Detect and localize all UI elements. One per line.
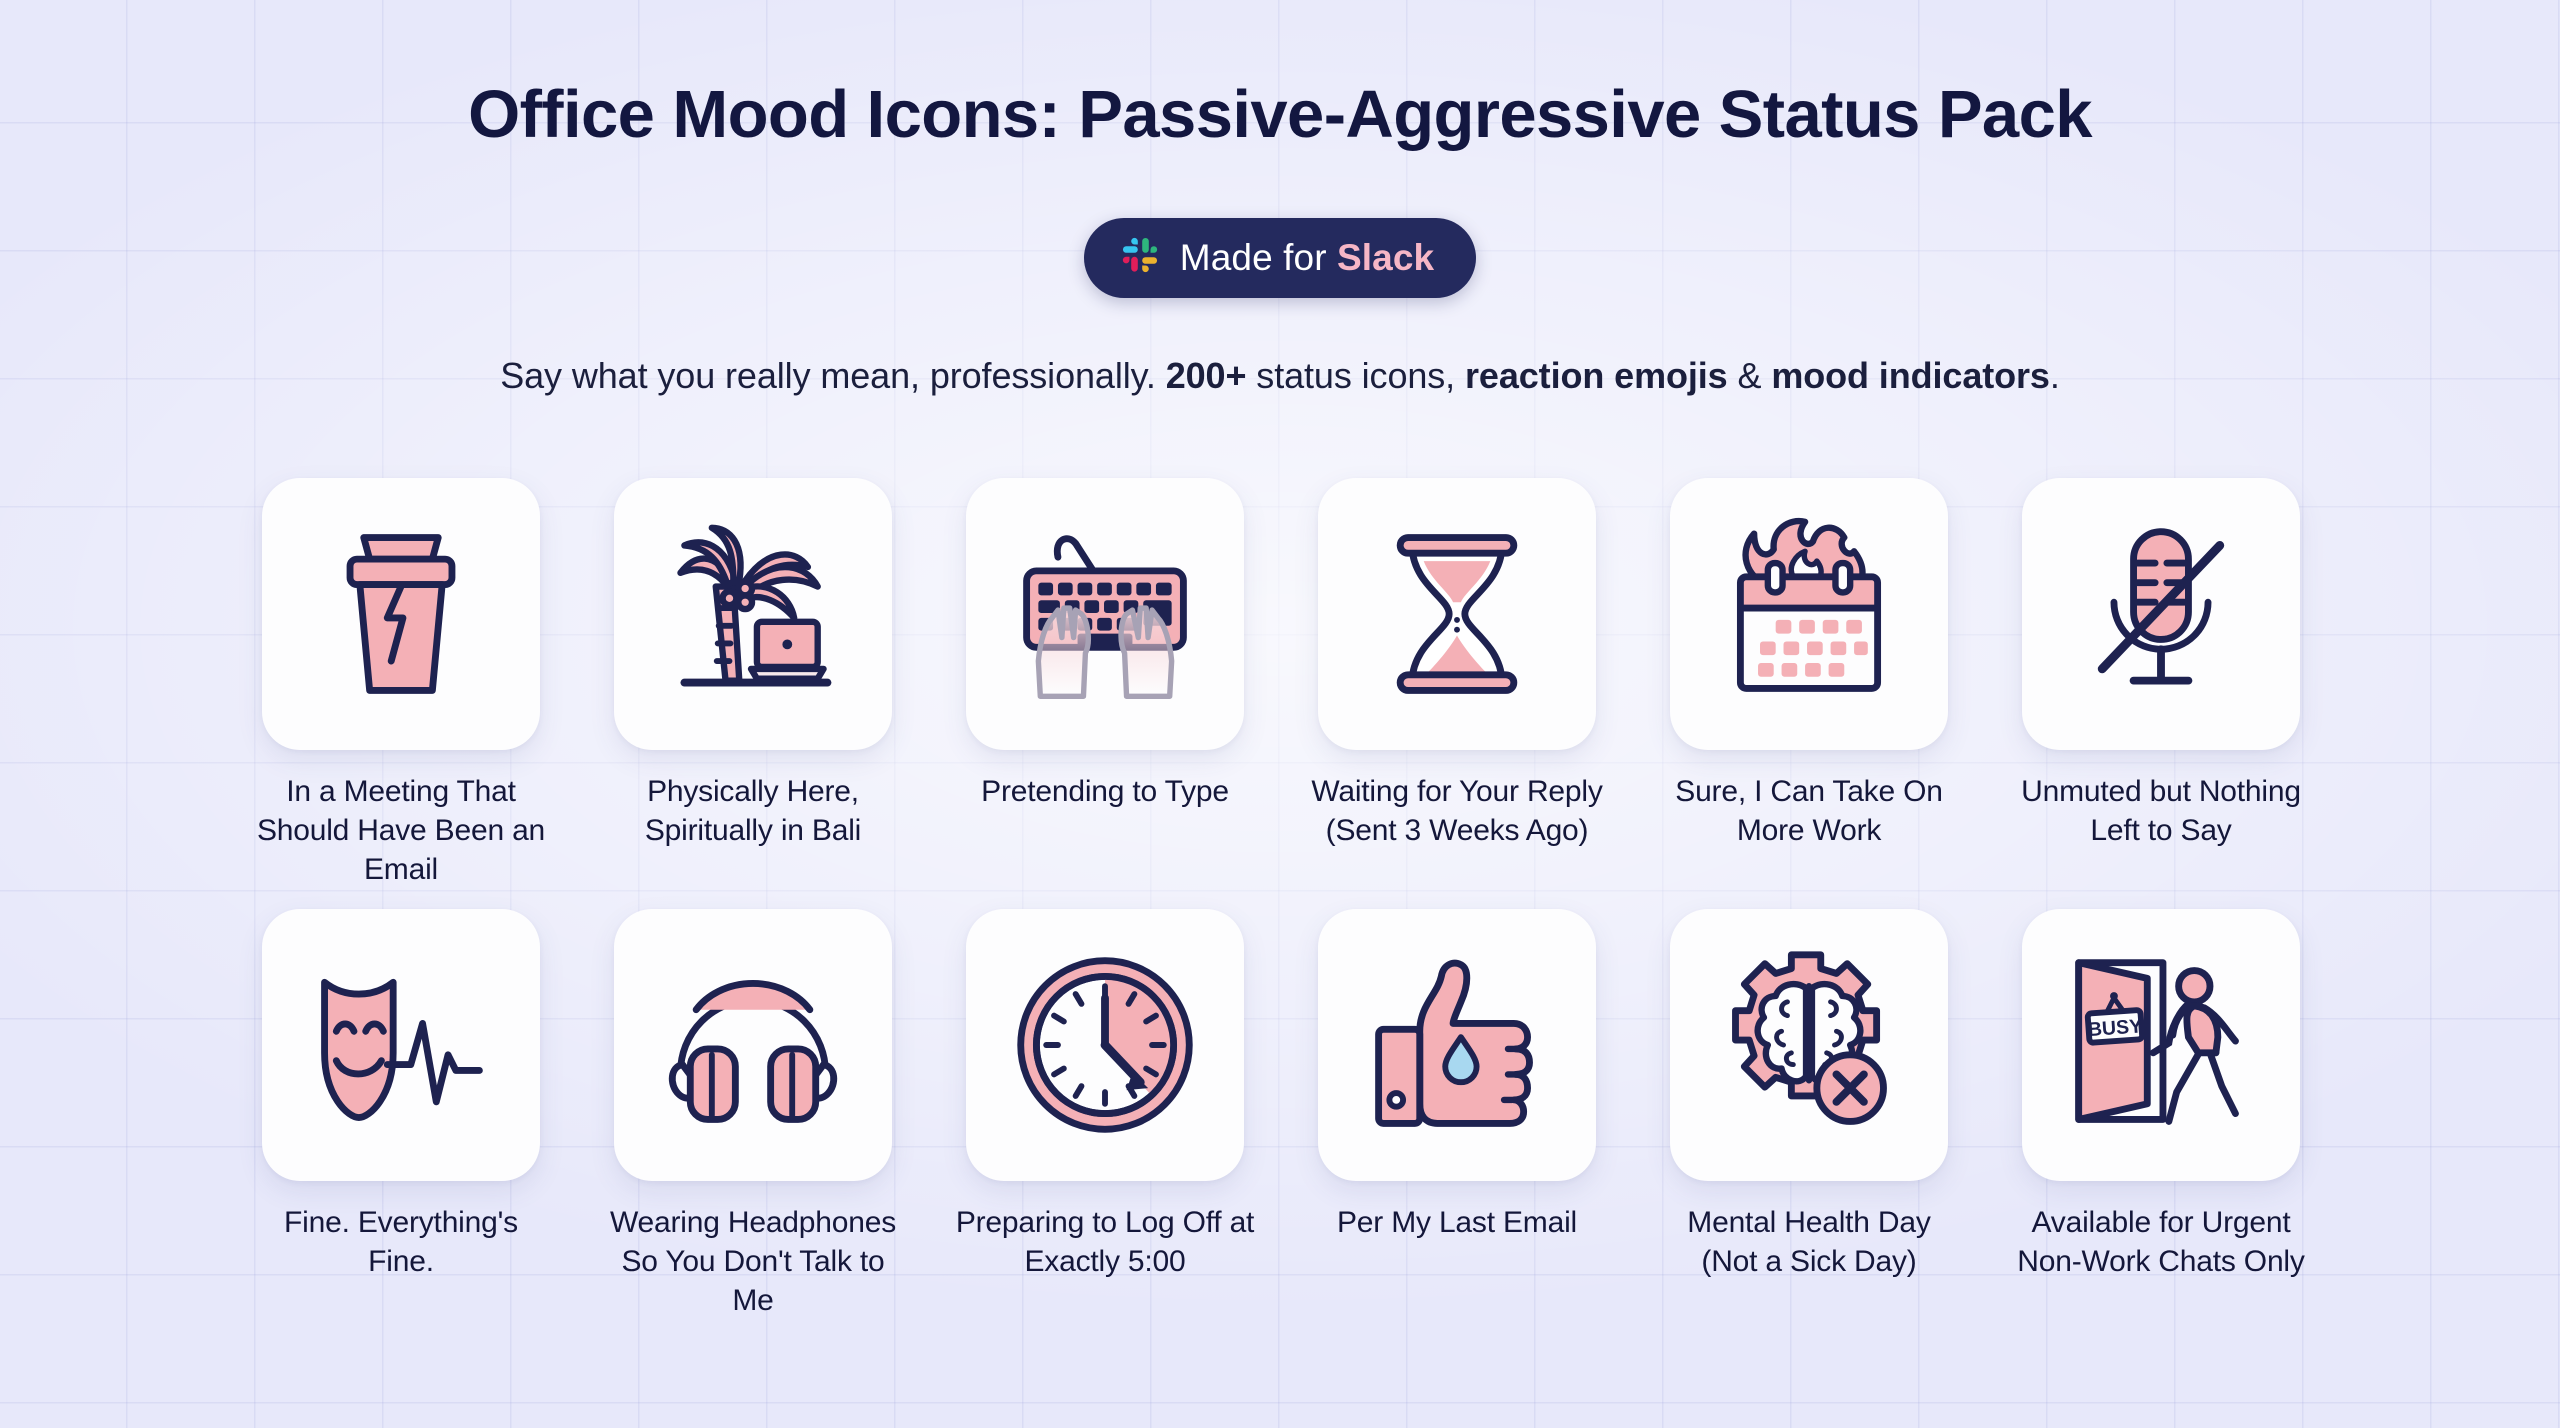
subtitle-bold-2: reaction emojis: [1465, 355, 1728, 396]
icon-label: Waiting for Your Reply (Sent 3 Weeks Ago…: [1307, 772, 1607, 850]
icon-label: Physically Here, Spiritually in Bali: [603, 772, 903, 850]
icon-card[interactable]: [1670, 909, 1948, 1181]
subtitle-bold-3: mood indicators: [1771, 355, 2050, 396]
icon-cell[interactable]: Preparing to Log Off at Exactly 5:00: [929, 909, 1281, 1320]
icon-label: Mental Health Day (Not a Sick Day): [1659, 1203, 1959, 1281]
icon-cell[interactable]: Wearing Headphones So You Don't Talk to …: [577, 909, 929, 1320]
icon-card[interactable]: [1318, 909, 1596, 1181]
icon-card[interactable]: [262, 478, 540, 750]
subtitle-part-4: .: [2050, 355, 2060, 396]
icon-label: Available for Urgent Non-Work Chats Only: [2011, 1203, 2311, 1281]
page-title: Office Mood Icons: Passive-Aggressive St…: [0, 76, 2560, 153]
badge-prefix: Made for: [1180, 237, 1337, 278]
icon-cell[interactable]: Sure, I Can Take On More Work: [1633, 478, 1985, 889]
icon-card[interactable]: [262, 909, 540, 1181]
busy-sign-text: BUSY: [2087, 1015, 2143, 1041]
icon-label: Fine. Everything's Fine.: [251, 1203, 551, 1281]
broken-coffee-cup-icon: [303, 516, 499, 712]
badge-label: Made for Slack: [1180, 237, 1434, 279]
badge-brand: Slack: [1337, 237, 1434, 278]
icon-cell[interactable]: Mental Health Day (Not a Sick Day): [1633, 909, 1985, 1320]
muted-microphone-icon: [2063, 516, 2259, 712]
hourglass-icon: [1359, 516, 1555, 712]
icon-cell[interactable]: BUSY Available for Urgent Non-Work Chats…: [1985, 909, 2337, 1320]
icon-card[interactable]: [966, 909, 1244, 1181]
clock-five-oclock-icon: [1007, 947, 1203, 1143]
icon-card[interactable]: [1670, 478, 1948, 750]
icon-cell[interactable]: Per My Last Email: [1281, 909, 1633, 1320]
icon-card[interactable]: [966, 478, 1244, 750]
icon-card[interactable]: BUSY: [2022, 909, 2300, 1181]
icon-cell[interactable]: Waiting for Your Reply (Sent 3 Weeks Ago…: [1281, 478, 1633, 889]
icon-label: Preparing to Log Off at Exactly 5:00: [955, 1203, 1255, 1281]
icon-cell[interactable]: Physically Here, Spiritually in Bali: [577, 478, 929, 889]
keyboard-hands-icon: [1007, 516, 1203, 712]
subtitle-bold-1: 200+: [1166, 355, 1247, 396]
poster-page: Office Mood Icons: Passive-Aggressive St…: [0, 0, 2560, 1428]
subtitle-part-2: status icons,: [1246, 355, 1465, 396]
icon-cell[interactable]: Pretending to Type: [929, 478, 1281, 889]
subtitle-part-1: Say what you really mean, professionally…: [500, 355, 1165, 396]
icon-card[interactable]: [2022, 478, 2300, 750]
smiling-mask-heartbeat-icon: [303, 947, 499, 1143]
made-for-slack-badge[interactable]: Made for Slack: [1084, 218, 1476, 298]
palm-tree-laptop-icon: [655, 516, 851, 712]
icon-label: Per My Last Email: [1307, 1203, 1607, 1242]
icon-cell[interactable]: Unmuted but Nothing Left to Say: [1985, 478, 2337, 889]
icon-card[interactable]: [1318, 478, 1596, 750]
icon-card[interactable]: [614, 909, 892, 1181]
headphones-icon: [655, 947, 851, 1143]
icon-label: Sure, I Can Take On More Work: [1659, 772, 1959, 850]
slack-logo-icon: [1118, 233, 1162, 282]
sweating-thumbs-up-icon: [1359, 947, 1555, 1143]
busy-door-exit-icon: BUSY: [2063, 947, 2259, 1143]
icon-label: Unmuted but Nothing Left to Say: [2011, 772, 2311, 850]
icon-label: Wearing Headphones So You Don't Talk to …: [603, 1203, 903, 1320]
icon-grid: In a Meeting That Should Have Been an Em…: [225, 478, 2337, 1320]
page-subtitle: Say what you really mean, professionally…: [0, 355, 2560, 397]
brain-gear-disabled-icon: [1711, 947, 1907, 1143]
icon-cell[interactable]: Fine. Everything's Fine.: [225, 909, 577, 1320]
icon-cell[interactable]: In a Meeting That Should Have Been an Em…: [225, 478, 577, 889]
icon-card[interactable]: [614, 478, 892, 750]
made-for-slack-badge-wrap: Made for Slack: [0, 218, 2560, 298]
burning-calendar-icon: [1711, 516, 1907, 712]
icon-label: In a Meeting That Should Have Been an Em…: [251, 772, 551, 889]
subtitle-part-3: &: [1728, 355, 1772, 396]
icon-label: Pretending to Type: [955, 772, 1255, 811]
